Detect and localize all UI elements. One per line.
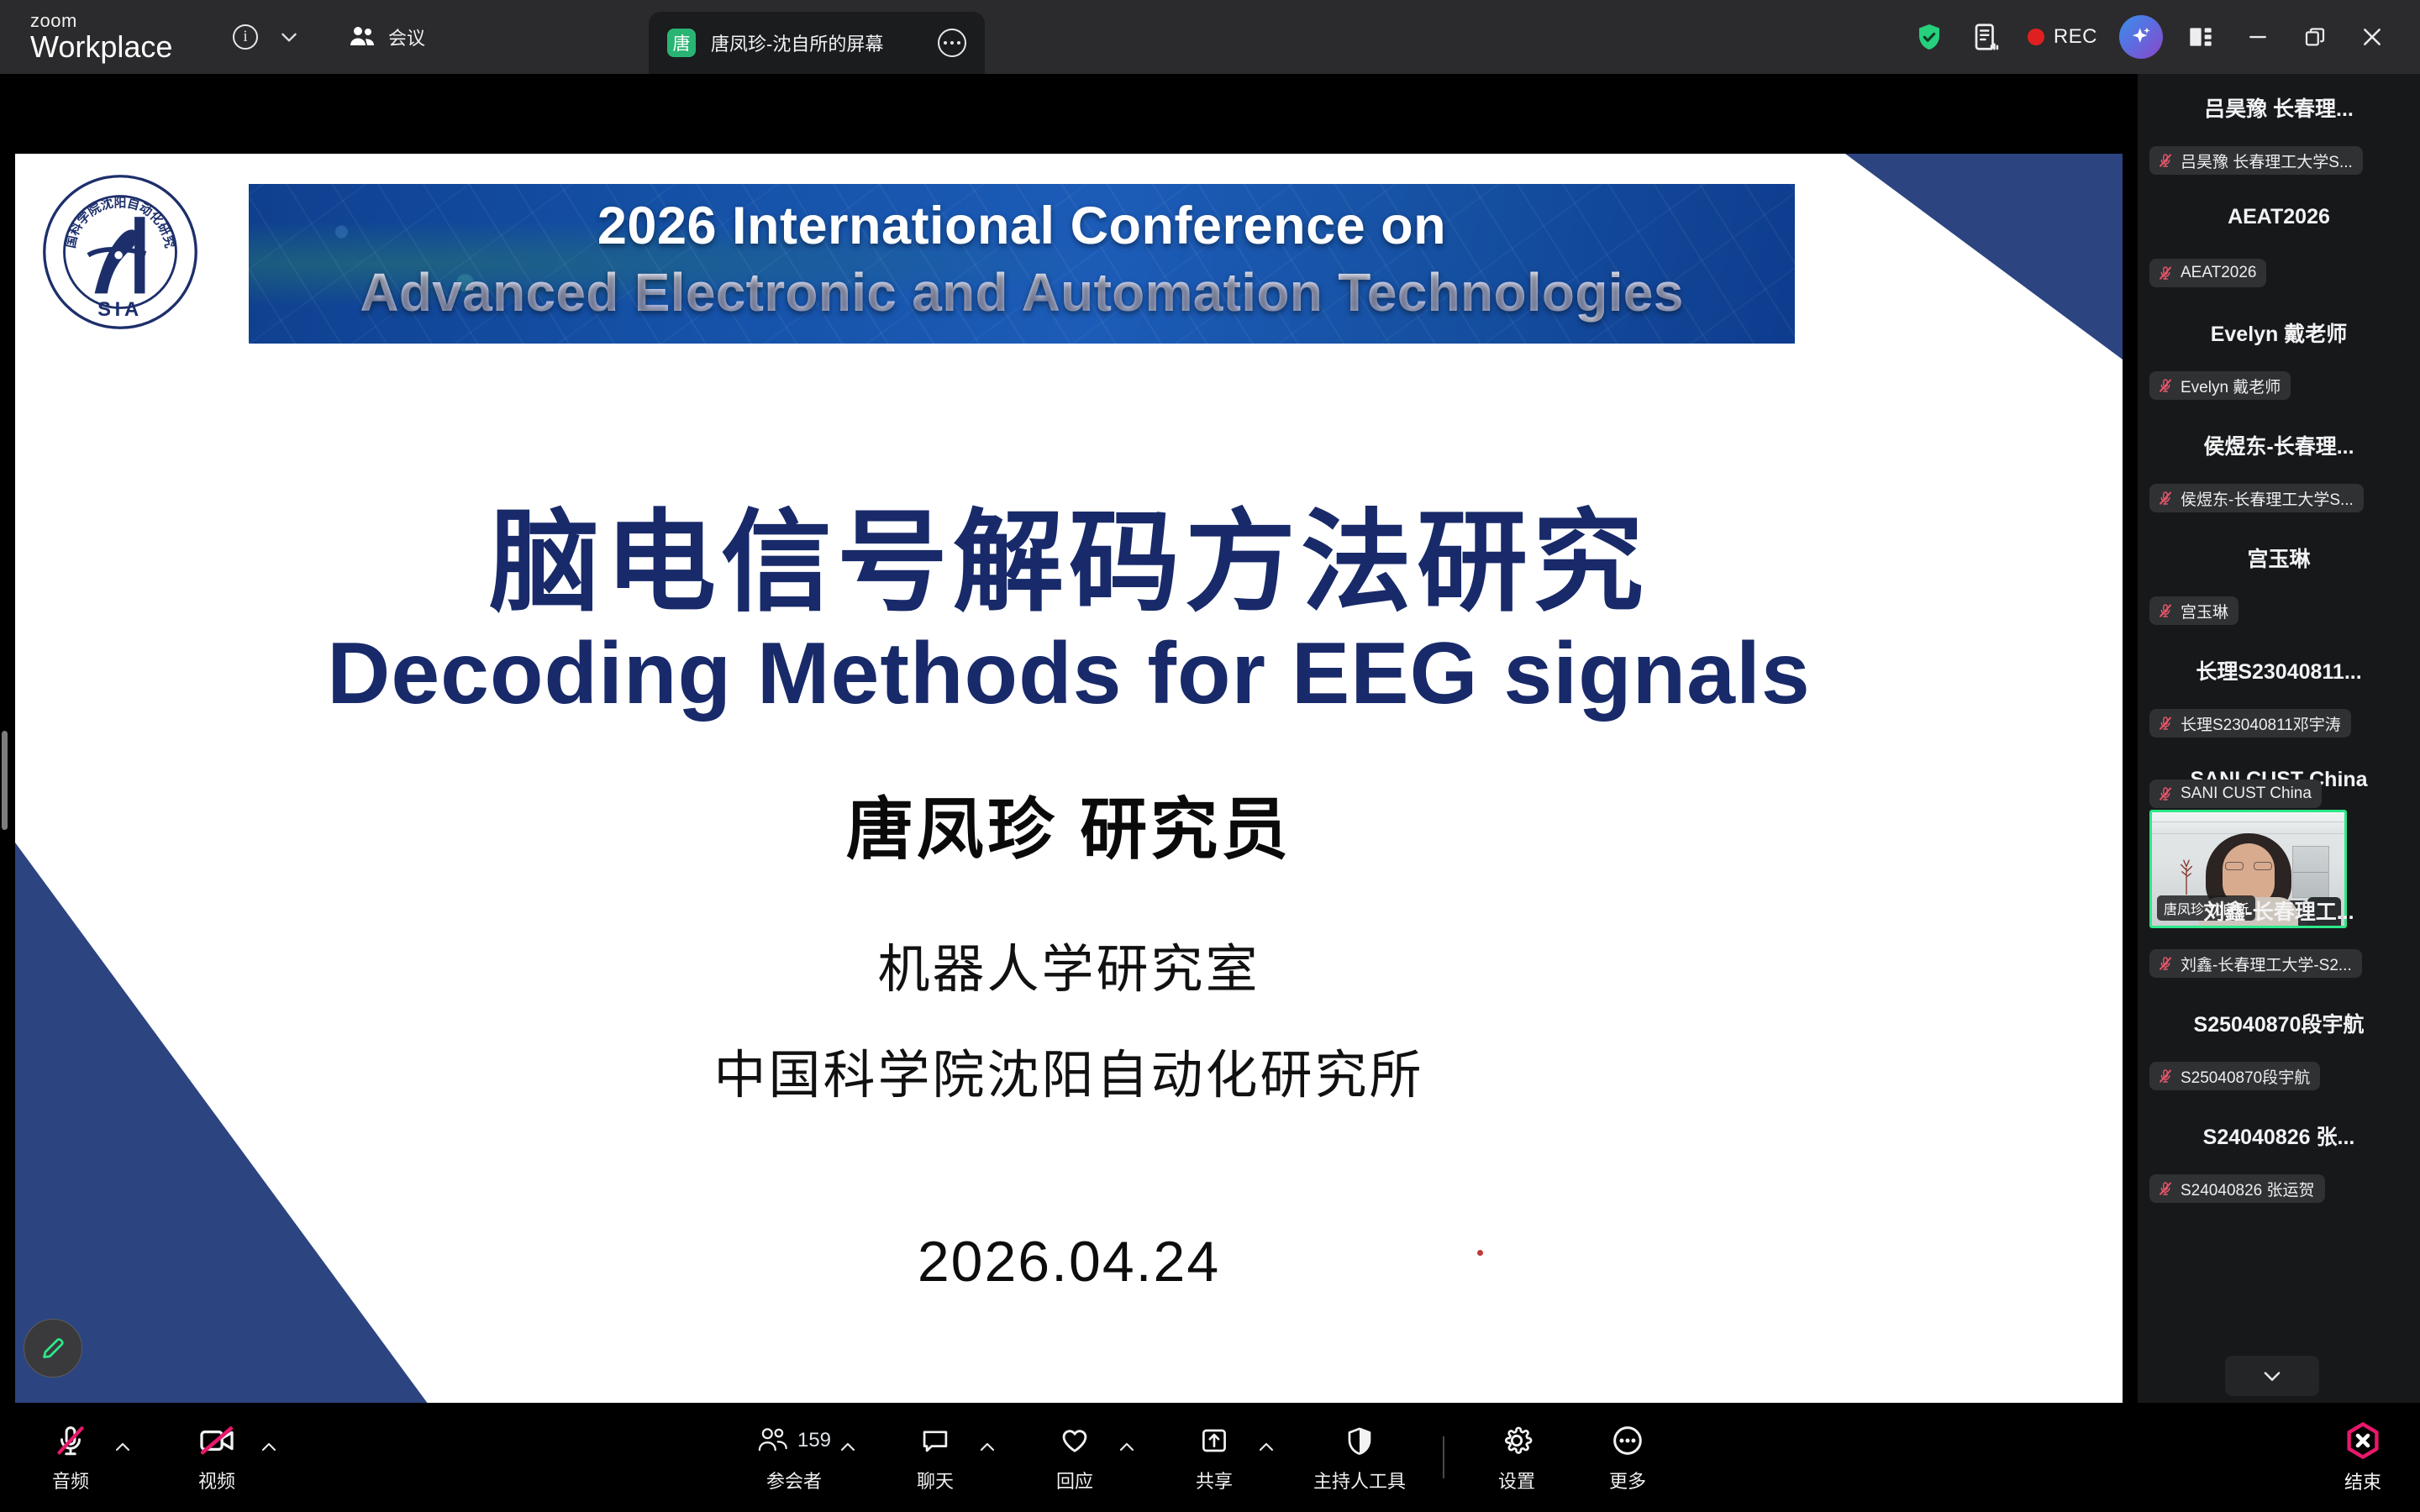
audio-options-caret[interactable] (113, 1437, 133, 1462)
participant-badge-name: 刘鑫-长春理工大学-S2... (2181, 953, 2352, 975)
shield-host-icon (1344, 1425, 1375, 1457)
microphone-muted-icon (2157, 601, 2174, 620)
participant-badge-name: 长理S23040811邓宇涛 (2181, 712, 2341, 735)
participant-display-name: 宫玉琳 (2247, 543, 2310, 573)
transcript-button[interactable] (1962, 13, 2011, 61)
chat-bubble-icon (919, 1425, 951, 1456)
participant-tile[interactable]: Evelyn 戴老师Evelyn 戴老师 (2138, 299, 2420, 412)
participant-badge-name: 侯煜东-长春理工大学S... (2181, 487, 2354, 510)
minimize-button[interactable] (2233, 13, 2282, 61)
reactions-button[interactable]: 回应 (1034, 1411, 1115, 1504)
audio-label: 音频 (52, 1467, 89, 1494)
participant-display-name: Evelyn 戴老师 (2211, 318, 2348, 348)
toolbar-divider (1443, 1436, 1444, 1478)
restore-window-icon (2302, 24, 2328, 50)
panel-scroll-down-button[interactable] (2225, 1356, 2319, 1396)
chat-button[interactable]: 聊天 (895, 1411, 976, 1504)
tab-shared-screen[interactable]: 唐 唐凤珍-沈自所的屏幕 (649, 12, 985, 74)
audio-mute-button[interactable]: 音频 (30, 1411, 111, 1504)
participant-name-badge: 宫玉琳 (2149, 596, 2238, 625)
host-tools-label: 主持人工具 (1313, 1467, 1406, 1494)
decor-triangle-top-right (1845, 154, 2123, 360)
shared-screen-stage: 中国科学院沈阳自动化研究所 SIA 2026 International Con… (0, 74, 2138, 1403)
participant-badge-name: 吕昊豫 长春理工大学S... (2181, 150, 2353, 172)
participant-badge-name: Evelyn 戴老师 (2181, 375, 2281, 397)
zoom-workplace-logo: zoom Workplace (30, 12, 173, 62)
avatar: 唐 (667, 29, 696, 57)
title-bar: zoom Workplace i 会议 唐 唐凤珍-沈自所的屏幕 (0, 0, 2420, 74)
microphone-muted-icon (2157, 489, 2174, 507)
chat-label: 聊天 (917, 1467, 954, 1494)
participant-name-badge: AEAT2026 (2149, 259, 2266, 287)
chevron-up-icon (838, 1437, 858, 1457)
participant-badge-name: S24040826 张运贺 (2181, 1178, 2315, 1200)
info-circle-icon: i (233, 24, 258, 50)
reactions-label: 回应 (1056, 1467, 1093, 1494)
heart-icon (1058, 1425, 1092, 1456)
participant-tile[interactable]: 刘鑫-长春理工...刘鑫-长春理工大学-S2... (2138, 877, 2420, 990)
microphone-muted-icon (2157, 785, 2174, 803)
camera-muted-icon (197, 1421, 236, 1460)
chevron-down-icon (2260, 1364, 2284, 1388)
zoom-meeting-window: zoom Workplace i 会议 唐 唐凤珍-沈自所的屏幕 (0, 0, 2420, 1512)
shield-check-icon (1914, 22, 1944, 52)
brand-zoom: zoom (30, 12, 173, 30)
participant-badge-name: 宫玉琳 (2181, 600, 2228, 622)
chevron-up-icon (1117, 1437, 1137, 1457)
end-label: 结束 (2344, 1467, 2381, 1494)
view-layout-icon (2187, 24, 2214, 50)
video-label: 视频 (198, 1467, 235, 1494)
slide-affiliation-institute: 中国科学院沈阳自动化研究所 (15, 1032, 2123, 1108)
end-call-hexagon-icon (2343, 1420, 2383, 1461)
presentation-slide: 中国科学院沈阳自动化研究所 SIA 2026 International Con… (15, 154, 2123, 1414)
titlebar-right-controls: REC (1905, 0, 2396, 74)
participant-display-name: S24040826 张... (2203, 1121, 2355, 1151)
participants-filmstrip[interactable]: 吕昊豫 长春理...吕昊豫 长春理工大学S...AEAT2026AEAT2026… (2138, 74, 2420, 1403)
chevron-up-icon (113, 1437, 133, 1457)
record-dot-icon (2028, 29, 2044, 45)
participants-count: 159 (797, 1429, 831, 1452)
participant-name-badge: SANI CUST China (2149, 780, 2322, 808)
meeting-controls-toolbar: 音频 视频 (0, 1403, 2420, 1512)
participant-tile[interactable]: AEAT2026AEAT2026 (2138, 186, 2420, 299)
share-label: 共享 (1196, 1467, 1233, 1494)
participant-tile[interactable]: 吕昊豫 长春理...吕昊豫 长春理工大学S... (2138, 74, 2420, 186)
participant-badge-name: S25040870段宇航 (2181, 1065, 2310, 1088)
people-icon (757, 1426, 791, 1455)
microphone-muted-icon (2157, 376, 2174, 395)
slide-date: 2026.04.24 (15, 1229, 2123, 1294)
slide-affiliation-lab: 机器人学研究室 (15, 927, 2123, 1002)
meetings-label: 会议 (388, 24, 425, 50)
participant-badge-name: SANI CUST China (2181, 785, 2312, 803)
pen-annotate-icon (38, 1333, 68, 1363)
laser-pointer-dot (1477, 1250, 1483, 1256)
reactions-options-caret[interactable] (1117, 1437, 1137, 1462)
microphone-muted-icon (2157, 1179, 2174, 1198)
sia-institute-logo: 中国科学院沈阳自动化研究所 SIA (40, 172, 200, 332)
video-ceiling (2152, 812, 2344, 834)
slide-presenter: 唐凤珍 研究员 (15, 775, 2123, 873)
participant-display-name: 侯煜东-长春理... (2203, 430, 2354, 460)
chat-options-caret[interactable] (977, 1437, 997, 1462)
svg-text:中国科学院沈阳自动化研究所: 中国科学院沈阳自动化研究所 (40, 172, 177, 249)
more-dots-icon[interactable] (938, 29, 966, 57)
participant-tile[interactable]: 长理S23040811...长理S23040811邓宇涛 (2138, 637, 2420, 749)
participant-name-badge: 侯煜东-长春理工大学S... (2149, 484, 2364, 512)
participant-tile[interactable]: S25040870段宇航S25040870段宇航 (2138, 990, 2420, 1102)
participant-tile[interactable]: SANI CUST China唐凤珍-沈自所SANI CUST China (2138, 749, 2420, 877)
more-label: 更多 (1609, 1467, 1646, 1494)
participants-label: 参会者 (766, 1467, 822, 1494)
participant-tile[interactable]: S24040826 张...S24040826 张运贺 (2138, 1102, 2420, 1215)
end-meeting-button[interactable]: 结束 (2343, 1420, 2383, 1494)
gear-icon (1501, 1425, 1533, 1457)
chevron-up-icon (1256, 1437, 1276, 1457)
participant-name-badge: S25040870段宇航 (2149, 1062, 2320, 1090)
participant-display-name: AEAT2026 (2228, 205, 2330, 229)
microphone-muted-icon (53, 1421, 88, 1460)
microphone-muted-icon (2157, 714, 2174, 732)
restore-window-button[interactable] (2291, 13, 2339, 61)
close-button[interactable] (2348, 13, 2396, 61)
participant-name-badge: Evelyn 戴老师 (2149, 371, 2291, 400)
tab-title: 唐凤珍-沈自所的屏幕 (711, 29, 923, 56)
chevron-up-icon (977, 1437, 997, 1457)
annotate-toggle-button[interactable] (24, 1319, 82, 1378)
participant-display-name: 刘鑫-长春理工... (2203, 895, 2354, 926)
meetings-nav-item[interactable]: 会议 (348, 24, 425, 50)
video-options-caret[interactable] (259, 1437, 279, 1462)
settings-button[interactable]: 设置 (1476, 1411, 1557, 1504)
banner-line-1: 2026 International Conference on (249, 196, 1795, 256)
meeting-info-dropdown[interactable] (267, 15, 311, 59)
participant-badge-name: AEAT2026 (2181, 264, 2256, 282)
chevron-down-icon (278, 26, 300, 48)
microphone-muted-icon (2157, 264, 2174, 282)
share-options-caret[interactable] (1256, 1437, 1276, 1462)
brand-workplace: Workplace (30, 32, 173, 62)
participant-display-name: S25040870段宇航 (2194, 1008, 2365, 1038)
minimize-icon (2245, 24, 2270, 50)
microphone-muted-icon (2157, 1067, 2174, 1085)
svg-text:SIA: SIA (97, 298, 143, 321)
participants-button[interactable]: 159 参会者 (752, 1411, 836, 1504)
microphone-muted-icon (2157, 954, 2174, 973)
people-group-icon (348, 24, 376, 50)
conference-banner: 2026 International Conference on Advance… (249, 184, 1795, 344)
share-screen-icon (1198, 1425, 1230, 1456)
view-layout-button[interactable] (2176, 13, 2225, 61)
banner-line-2: Advanced Electronic and Automation Techn… (249, 261, 1795, 323)
more-dots-circle-icon (1611, 1424, 1644, 1457)
slide-title-en: Decoding Methods for EEG signals (15, 624, 2123, 724)
share-screen-button[interactable]: 共享 (1174, 1411, 1255, 1504)
meeting-info-button[interactable]: i (224, 15, 267, 59)
participant-display-name: 吕昊豫 长春理... (2204, 92, 2354, 123)
host-tools-button[interactable]: 主持人工具 (1308, 1411, 1411, 1504)
security-shield-button[interactable] (1905, 13, 1954, 61)
participant-name-badge: 吕昊豫 长春理工大学S... (2149, 146, 2363, 175)
participant-name-badge: 长理S23040811邓宇涛 (2149, 709, 2351, 738)
participants-options-caret[interactable] (838, 1437, 858, 1462)
ai-companion-sparkle-icon[interactable] (2119, 15, 2163, 59)
microphone-muted-icon (2157, 151, 2174, 170)
participant-tile[interactable]: 侯煜东-长春理...侯煜东-长春理工大学S... (2138, 412, 2420, 524)
close-icon (2359, 24, 2386, 50)
participant-display-name: 长理S23040811... (2196, 655, 2361, 685)
recording-indicator[interactable]: REC (2019, 25, 2106, 49)
rec-label: REC (2054, 25, 2097, 49)
panel-scrollbar-thumb[interactable] (2, 731, 8, 830)
participant-name-badge: 刘鑫-长春理工大学-S2... (2149, 949, 2362, 978)
video-mute-button[interactable]: 视频 (176, 1411, 257, 1504)
more-button[interactable]: 更多 (1587, 1411, 1668, 1504)
participant-name-badge: S24040826 张运贺 (2149, 1174, 2325, 1203)
chevron-up-icon (259, 1437, 279, 1457)
settings-label: 设置 (1498, 1467, 1535, 1494)
participant-list: 吕昊豫 长春理...吕昊豫 长春理工大学S...AEAT2026AEAT2026… (2138, 74, 2420, 1215)
slide-title-cn: 脑电信号解码方法研究 (15, 473, 2123, 633)
participant-tile[interactable]: 宫玉琳宫玉琳 (2138, 524, 2420, 637)
transcript-icon (1971, 22, 2002, 52)
